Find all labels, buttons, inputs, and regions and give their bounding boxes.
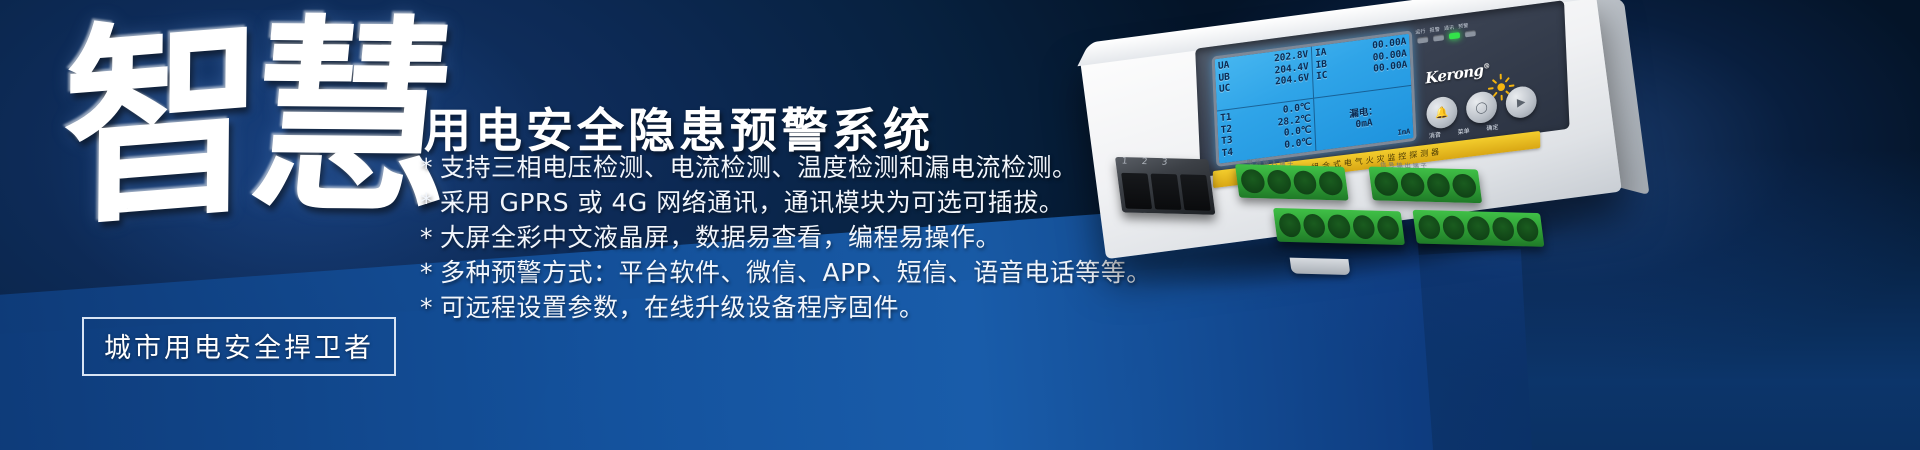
device-green-terminal <box>1412 210 1544 247</box>
led-label-run: 运行 <box>1415 28 1426 36</box>
terminal-hole <box>1266 170 1292 194</box>
bell-icon: 🔔 <box>1435 105 1449 120</box>
list-item: *采用 GPRS 或 4G 网络通讯，通讯模块为可选可插拔。 <box>420 187 1140 218</box>
terminal-hole <box>1302 214 1327 238</box>
led-label-alarm: 报警 <box>1429 26 1440 34</box>
terminal-hole <box>1292 170 1318 194</box>
confirm-button-label: 确定 <box>1486 122 1498 133</box>
device-green-terminal <box>1368 167 1482 204</box>
led-label-comm: 通讯 <box>1444 24 1455 32</box>
bullet-star-icon: * <box>420 293 433 322</box>
device-green-terminal <box>1273 208 1405 245</box>
terminal-hole <box>1451 174 1477 198</box>
terminal-hole <box>1425 173 1451 197</box>
led-alarm-indicator <box>1433 34 1444 41</box>
terminal-hole <box>1373 172 1399 196</box>
lcd-temperature-panel: T10.0℃ T228.2℃ T30.0℃ T40.0℃ <box>1217 99 1316 164</box>
terminal-number-2: 2 <box>1141 157 1148 167</box>
lcd-ic-label: IC <box>1316 70 1328 83</box>
terminal-hole <box>1376 216 1401 240</box>
registered-mark-icon: ® <box>1483 61 1490 71</box>
terminal-hole <box>1278 213 1303 237</box>
led-label-warning: 预警 <box>1458 22 1469 30</box>
lcd-uc-label: UC <box>1219 82 1231 95</box>
terminal-hole <box>1240 169 1266 193</box>
list-item-label: 采用 GPRS 或 4G 网络通讯，通讯模块为可选可插拔。 <box>440 188 1064 217</box>
bullet-star-icon: * <box>420 223 433 252</box>
lcd-leakage-value: 0mA <box>1355 117 1373 131</box>
slogan-box: 城市用电安全捍卫者 <box>82 317 396 376</box>
triangle-icon: ▶ <box>1517 95 1526 109</box>
calligraphy-char-zhi: 智 <box>62 11 259 238</box>
terminal-hole <box>1442 216 1467 240</box>
lcd-footer-note: ImA <box>1397 126 1410 139</box>
terminal-pin <box>1150 174 1181 210</box>
terminal-hole <box>1491 217 1516 241</box>
led-warning-indicator <box>1465 30 1476 37</box>
device-green-terminal <box>1235 164 1349 201</box>
terminal-hole <box>1399 172 1425 196</box>
terminal-hole <box>1327 214 1352 238</box>
bullet-star-icon: * <box>420 188 433 217</box>
device-din-rail-clip <box>1290 258 1351 275</box>
mute-button[interactable]: 🔔 <box>1426 95 1458 130</box>
calligraphy-logo: 智慧 <box>54 17 430 276</box>
led-run-indicator <box>1417 36 1428 43</box>
list-item: *多种预警方式：平台软件、微信、APP、短信、语音电话等等。 <box>420 257 1140 288</box>
terminal-hole <box>1466 216 1491 240</box>
terminal-number-3: 3 <box>1161 158 1168 168</box>
circle-icon: ◯ <box>1475 100 1488 115</box>
lcd-leakage-panel: 漏电： 0mA ImA <box>1314 86 1413 151</box>
terminal-pin <box>1180 174 1211 210</box>
led-comm-indicator <box>1449 32 1460 39</box>
list-item: *可远程设置参数，在线升级设备程序固件。 <box>420 292 1140 323</box>
list-item: *大屏全彩中文液晶屏，数据易查看，编程易操作。 <box>420 222 1140 253</box>
bullet-star-icon: * <box>420 153 433 182</box>
terminal-hole <box>1515 217 1540 241</box>
confirm-button[interactable]: ▶ <box>1505 85 1537 120</box>
list-item-label: 可远程设置参数，在线升级设备程序固件。 <box>440 293 925 322</box>
list-item-label: 支持三相电压检测、电流检测、温度检测和漏电流检测。 <box>440 153 1078 182</box>
lcd-t4-value: 0.0℃ <box>1284 136 1312 151</box>
terminal-number-1: 1 <box>1121 157 1128 167</box>
list-item-label: 大屏全彩中文液晶屏，数据易查看，编程易操作。 <box>440 223 1001 252</box>
page-title: 用电安全隐患预警系统 <box>424 92 934 161</box>
terminal-hole <box>1318 171 1344 195</box>
banner-root: 智慧 城市用电安全捍卫者 用电安全隐患预警系统 *支持三相电压检测、电流检测、温… <box>0 0 1920 450</box>
feature-list: *支持三相电压检测、电流检测、温度检测和漏电流检测。 *采用 GPRS 或 4G… <box>420 152 1140 327</box>
menu-button[interactable]: ◯ <box>1466 90 1498 125</box>
terminal-hole <box>1417 215 1442 239</box>
terminal-pin <box>1121 173 1152 209</box>
terminal-hole <box>1351 215 1376 239</box>
bullet-star-icon: * <box>420 258 433 287</box>
lcd-t4-label: T4 <box>1222 146 1234 159</box>
list-item-label: 多种预警方式：平台软件、微信、APP、短信、语音电话等等。 <box>440 258 1152 287</box>
list-item: *支持三相电压检测、电流检测、温度检测和漏电流检测。 <box>420 152 1140 183</box>
mute-button-label: 消音 <box>1429 129 1441 140</box>
menu-button-label: 菜单 <box>1457 126 1469 137</box>
